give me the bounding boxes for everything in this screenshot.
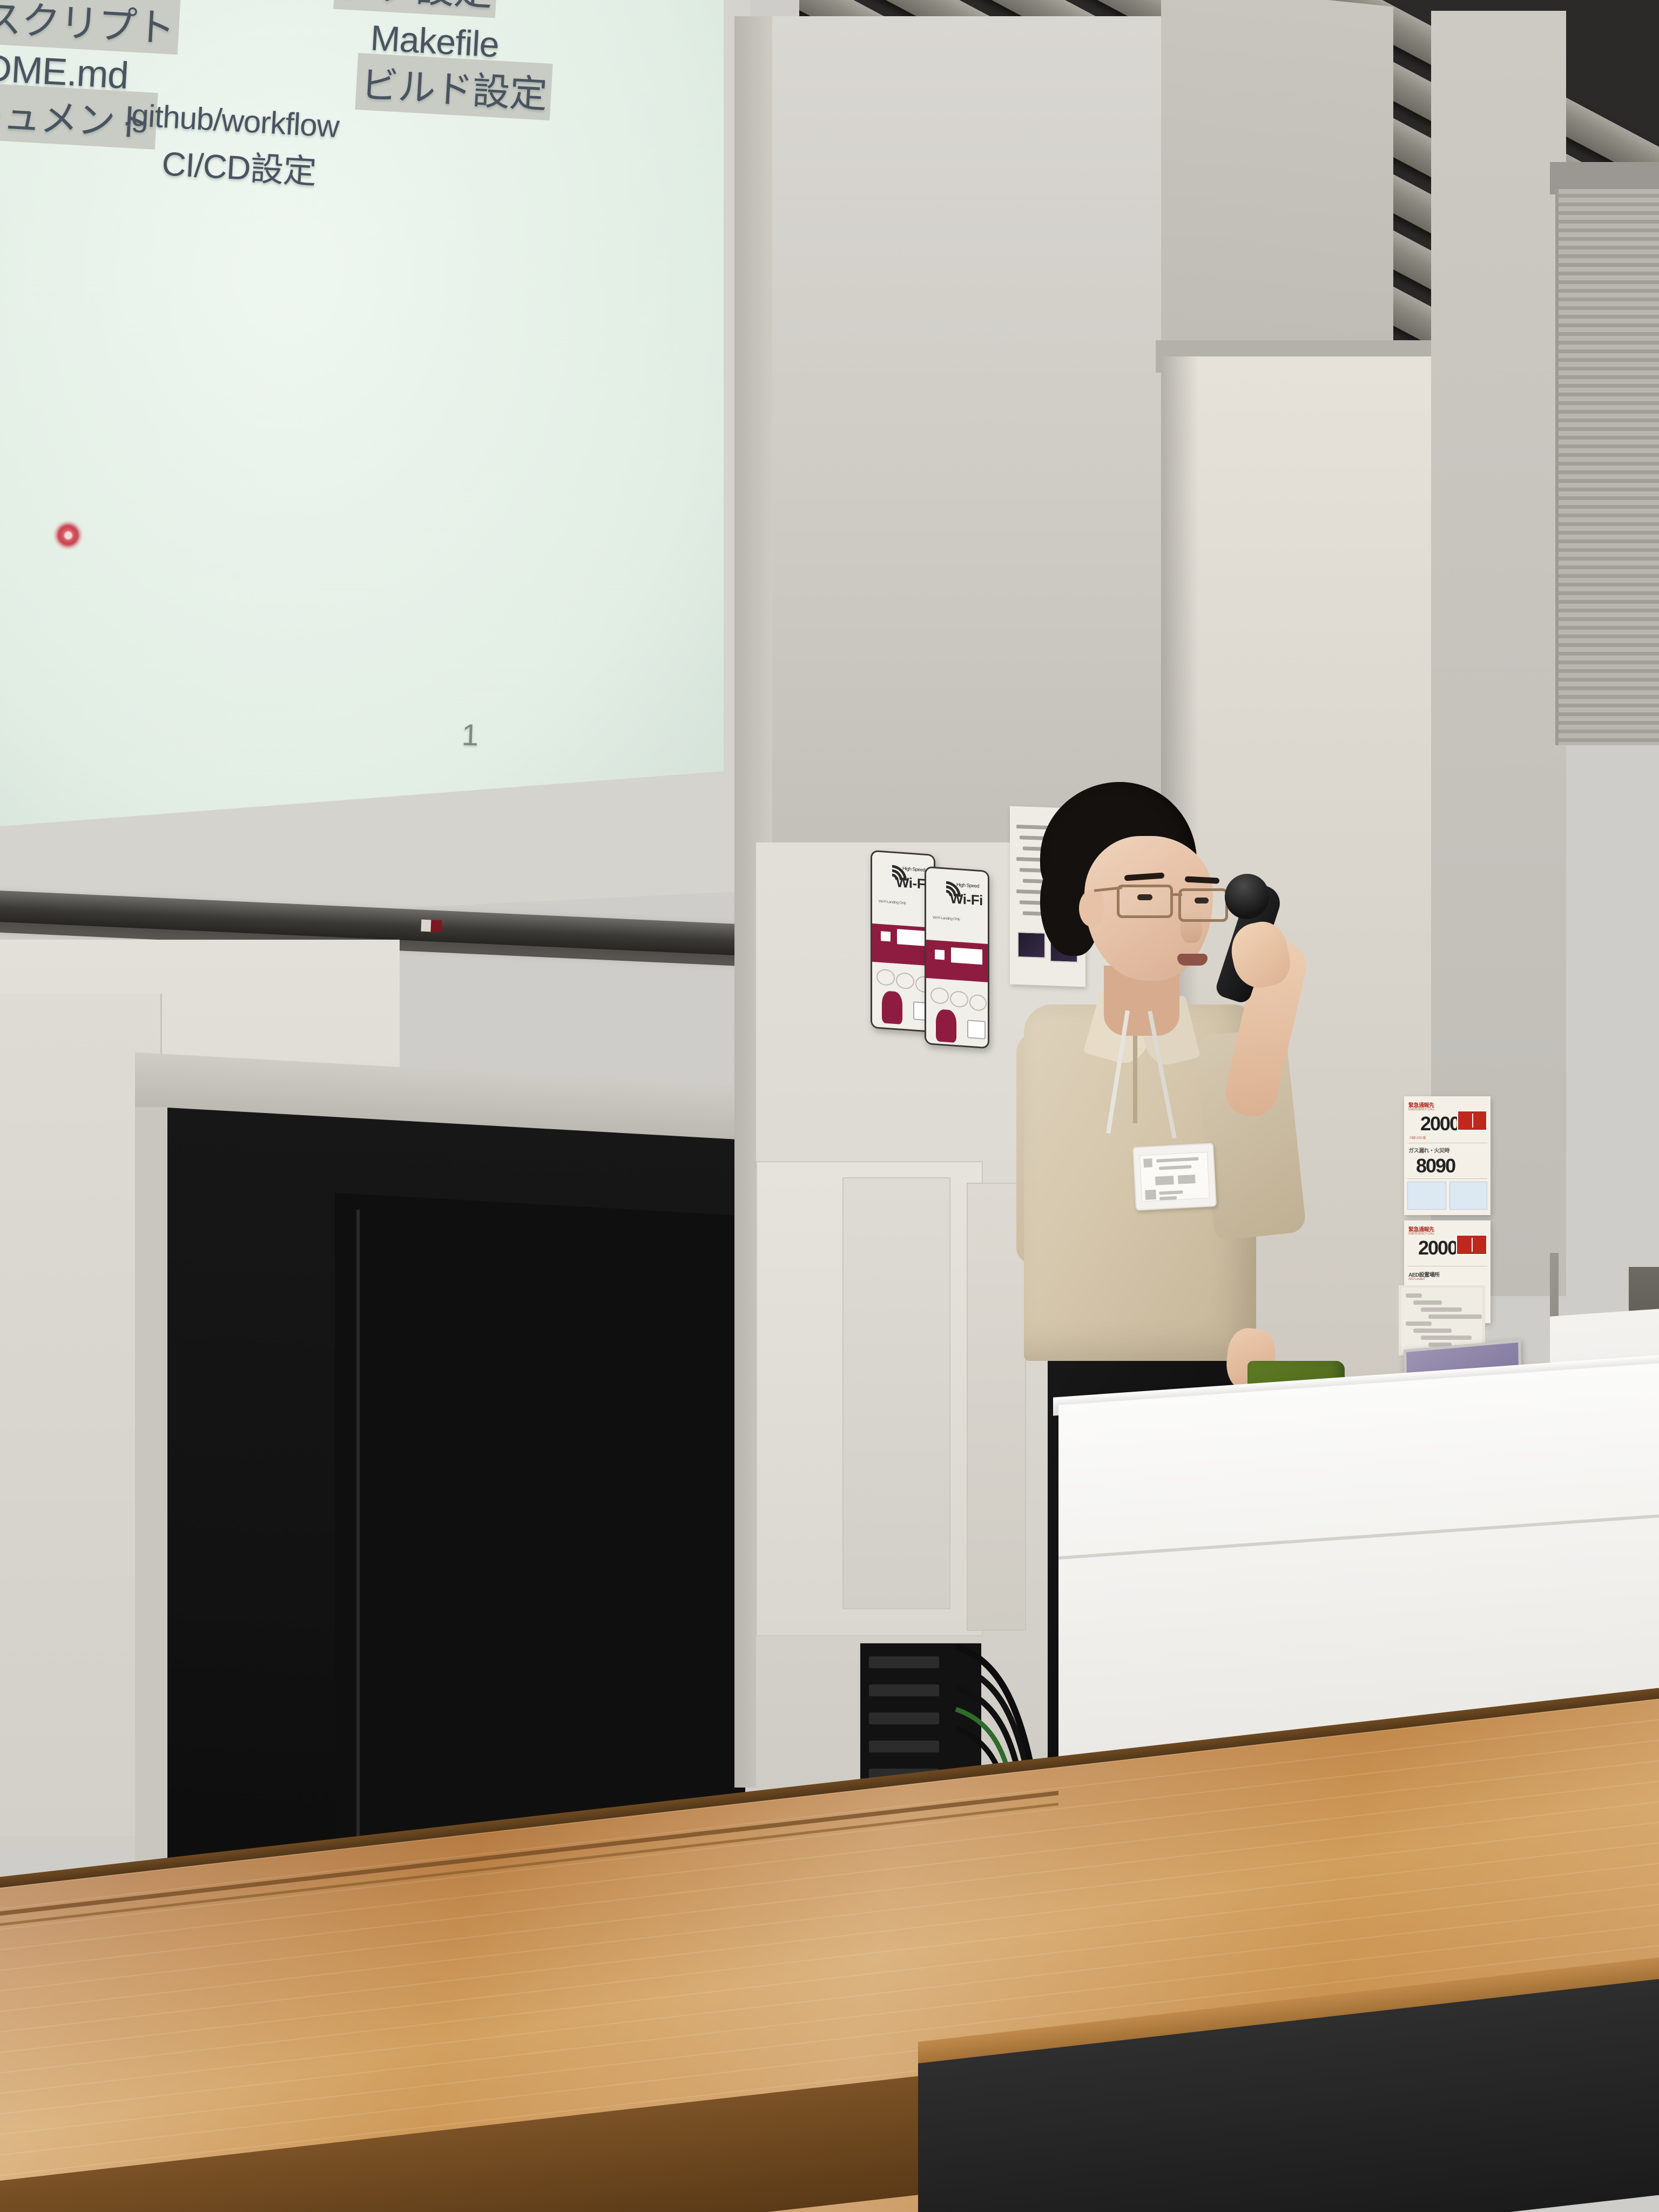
slide-text-cicd: CI/CD設定 — [161, 145, 317, 191]
emergency-poster-top: 緊急通報先 EMERGENCY CALL 2000 内線 2000 番 ガス漏れ… — [1404, 1096, 1491, 1215]
slide-text-utils: utils/ — [185, 0, 258, 3]
slide-item-scripts: 用スクリプト — [0, 0, 181, 55]
wifi-ssid-box — [880, 930, 892, 943]
patch-panel-row — [869, 1741, 939, 1752]
slide-item-formatter-caption: ンタ設定 — [333, 0, 498, 18]
emergency-stamp — [1457, 1110, 1487, 1131]
slide-page-number: 1 — [461, 717, 479, 752]
poster-text-line — [1413, 1300, 1442, 1305]
badge-block — [1178, 1175, 1196, 1184]
poster-text-line — [1413, 1328, 1452, 1333]
emergency-heading: 緊急通報先 — [1408, 1101, 1434, 1109]
badge-line — [1159, 1196, 1177, 1201]
poster-text-line — [1421, 1307, 1462, 1312]
wifi-poster-right: High Speed Wi-Fi Wi-Fi Landing Only — [925, 866, 989, 1049]
divider — [1407, 1178, 1487, 1179]
projection-screen: utils/ 用スクリプト ンタ設定 Makefile ビルド設定 EADME.… — [0, 0, 751, 929]
emergency-number-2000-b: 2000 — [1418, 1237, 1457, 1259]
patch-panel-row — [869, 1712, 939, 1724]
wall-column-right — [1161, 0, 1393, 385]
slide-item-build-config: ビルド設定 — [355, 53, 552, 120]
presenter-ear — [1079, 890, 1104, 927]
divider — [1407, 1266, 1487, 1266]
emergency-note: 内線 2000 番 — [1410, 1135, 1426, 1140]
emergency-heading-2: ガス漏れ・火災時 — [1408, 1146, 1449, 1154]
photo-scene: utils/ 用スクリプト ンタ設定 Makefile ビルド設定 EADME.… — [0, 0, 1659, 2212]
wifi-ssid-box — [934, 948, 946, 961]
poster-text-line — [1421, 1336, 1472, 1340]
patch-panel-row — [869, 1656, 939, 1668]
emergency-info-panel — [1407, 1182, 1446, 1210]
badge-logo — [1143, 1158, 1152, 1168]
opening-left-jamb — [135, 1107, 167, 1901]
wifi-poster-brand: Wi-Fi — [950, 890, 983, 909]
wifi-person-icon — [936, 1009, 956, 1043]
emergency-info-panel — [1449, 1182, 1487, 1210]
name-badge — [1132, 1143, 1217, 1211]
badge-line — [1159, 1165, 1191, 1170]
glasses-bridge — [1170, 893, 1182, 896]
badge-line — [1159, 1190, 1183, 1195]
back-wall-upper — [740, 16, 1193, 859]
laser-pointer-core — [64, 531, 72, 539]
emergency-stamp — [1456, 1235, 1487, 1255]
poster-text-line — [1428, 1314, 1482, 1319]
shirt-placket — [1133, 1031, 1137, 1123]
name-badge-card — [1139, 1152, 1210, 1202]
slide-text-scripts: 用スクリプト — [0, 0, 181, 55]
aed-heading: AED設置場所 — [1408, 1270, 1440, 1278]
window-blinds[interactable] — [1555, 189, 1659, 745]
badge-qr — [1145, 1190, 1156, 1200]
emergency-number-8090: 8090 — [1416, 1155, 1455, 1177]
patch-panel-row — [869, 1684, 939, 1696]
slide-item-utils: utils/ — [185, 0, 258, 3]
emergency-subheading: EMERGENCY CALL — [1408, 1108, 1434, 1111]
emergency-number-2000: 2000 — [1420, 1112, 1459, 1135]
poster-text-line — [1406, 1293, 1422, 1298]
glasses-lens-left — [1117, 885, 1173, 918]
slide-text-formatter: ンタ設定 — [333, 0, 498, 18]
presenter-mouth — [1177, 954, 1208, 966]
wifi-person-icon — [882, 990, 902, 1024]
wifi-ssid-value-box — [950, 946, 983, 966]
emergency-subheading: EMERGENCY CALL — [1408, 1232, 1434, 1236]
poster-text-line — [1406, 1321, 1432, 1326]
wifi-qr-box — [967, 1020, 986, 1039]
wifi-poster-brand: Wi-Fi — [896, 874, 929, 893]
screen-indicator-led — [421, 920, 442, 933]
divider — [1407, 1143, 1487, 1143]
badge-line — [1156, 1157, 1198, 1163]
slide-item-cicd: CI/CD設定 — [161, 136, 318, 193]
equipment-cabinet-middle[interactable] — [842, 1177, 950, 1609]
badge-block — [1155, 1176, 1174, 1185]
presenter-nose — [1181, 912, 1202, 943]
screen-surface: utils/ 用スクリプト ンタ設定 Makefile ビルド設定 EADME.… — [0, 0, 724, 826]
emergency-heading: 緊急通報先 — [1408, 1225, 1434, 1233]
aed-subheading: AED Located — [1408, 1278, 1425, 1281]
slide-text-build-config: ビルド設定 — [355, 53, 552, 120]
opening-divider — [356, 1210, 360, 1901]
